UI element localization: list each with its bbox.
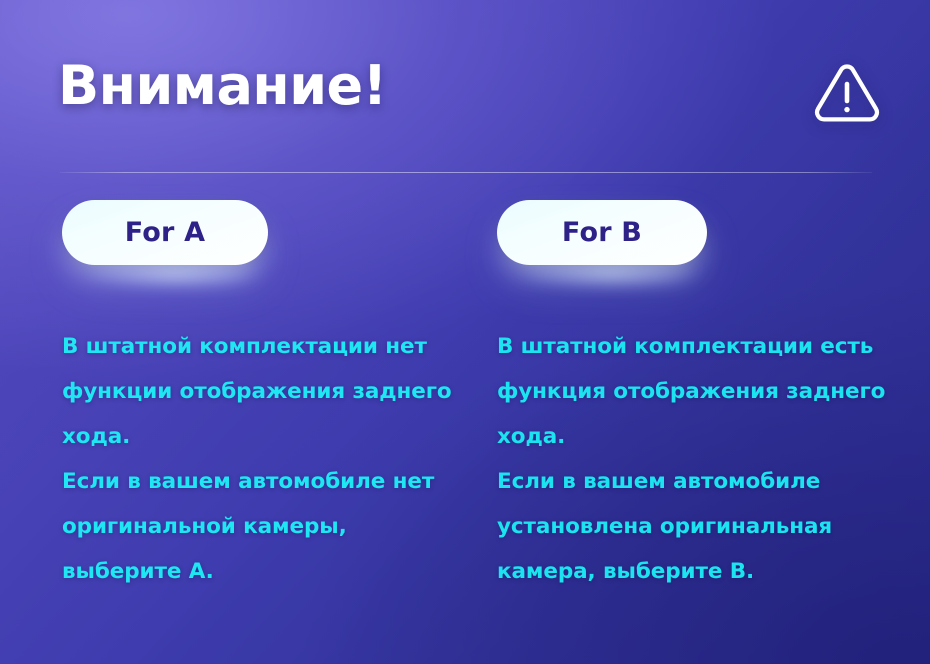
header-divider	[60, 172, 872, 173]
option-a-paragraph-1: В штатной комплектации нет функции отобр…	[62, 324, 462, 459]
for-a-button[interactable]: For A	[62, 200, 268, 265]
for-b-button[interactable]: For B	[497, 200, 707, 265]
for-a-button-label: For A	[125, 217, 206, 248]
option-b-paragraph-1: В штатной комплектации есть функция отоб…	[497, 324, 897, 459]
option-a-paragraph-2: Если в вашем автомобиле нет оригинальной…	[62, 459, 462, 594]
warning-slide: Внимание! For A В штатной комплектации н…	[0, 0, 930, 664]
options-columns: For A В штатной комплектации нет функции…	[0, 200, 930, 640]
pill-wrapper-b: For B	[497, 200, 897, 300]
option-a-description: В штатной комплектации нет функции отобр…	[62, 324, 462, 594]
for-b-button-label: For B	[562, 217, 642, 248]
option-column-b: For B В штатной комплектации есть функци…	[497, 200, 897, 594]
pill-wrapper-a: For A	[62, 200, 462, 300]
warning-triangle-icon	[812, 60, 882, 126]
slide-header: Внимание!	[0, 0, 930, 172]
page-title: Внимание!	[58, 54, 387, 117]
option-column-a: For A В штатной комплектации нет функции…	[62, 200, 462, 594]
option-b-description: В штатной комплектации есть функция отоб…	[497, 324, 897, 594]
option-b-paragraph-2: Если в вашем автомобиле установлена ориг…	[497, 459, 897, 594]
